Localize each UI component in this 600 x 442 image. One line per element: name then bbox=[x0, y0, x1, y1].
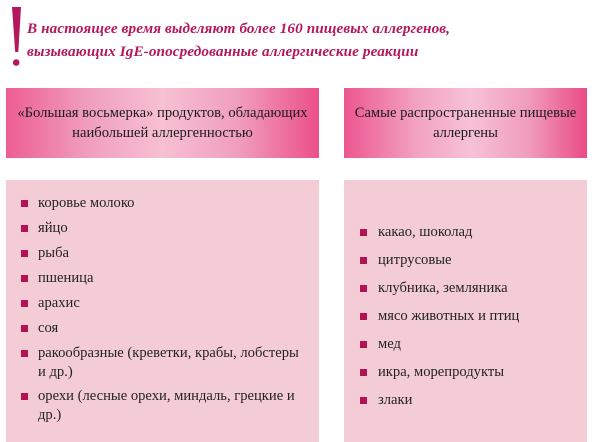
banner-line-1: В настоящее время выделяют более 160 пищ… bbox=[27, 20, 450, 37]
list-item: какао, шоколад bbox=[354, 223, 577, 242]
list-item-label: какао, шоколад bbox=[378, 224, 472, 240]
square-bullet-icon bbox=[360, 229, 367, 236]
list-item: злаки bbox=[354, 391, 577, 410]
banner-line-2: вызывающих IgE-опосредованные аллергичес… bbox=[27, 40, 587, 63]
list-item: яйцо bbox=[16, 219, 309, 238]
square-bullet-icon bbox=[21, 250, 28, 257]
list-item: арахис bbox=[16, 294, 309, 313]
right-column-header-label: Самые распространенные пищевые аллергены bbox=[354, 103, 577, 143]
square-bullet-icon bbox=[21, 225, 28, 232]
list-item-label: арахис bbox=[38, 295, 80, 311]
list-item-label: орехи (лесные орехи, миндаль, грецкие и … bbox=[38, 388, 295, 423]
list-item: орехи (лесные орехи, миндаль, грецкие и … bbox=[16, 387, 309, 425]
list-item-label: соя bbox=[38, 320, 58, 336]
square-bullet-icon bbox=[21, 325, 28, 332]
list-item: клубника, земляника bbox=[354, 279, 577, 298]
list-item-label: рыба bbox=[38, 245, 69, 261]
exclamation-mark-icon bbox=[8, 6, 28, 68]
list-item: рыба bbox=[16, 244, 309, 263]
list-item: икра, морепродукты bbox=[354, 363, 577, 382]
right-column-header: Самые распространенные пищевые аллергены bbox=[344, 88, 587, 158]
square-bullet-icon bbox=[360, 313, 367, 320]
list-item-label: коровье молоко bbox=[38, 195, 134, 211]
square-bullet-icon bbox=[21, 300, 28, 307]
list-item: пшеница bbox=[16, 269, 309, 288]
right-column-panel: какао, шоколад цитрусовые клубника, земл… bbox=[344, 180, 587, 442]
list-item-label: цитрусовые bbox=[378, 252, 452, 268]
square-bullet-icon bbox=[21, 393, 28, 400]
list-item: соя bbox=[16, 319, 309, 338]
list-item-label: яйцо bbox=[38, 220, 68, 236]
square-bullet-icon bbox=[21, 275, 28, 282]
list-item-label: икра, морепродукты bbox=[378, 364, 504, 380]
left-column-header-label: «Большая восьмерка» продуктов, обладающи… bbox=[16, 103, 309, 143]
square-bullet-icon bbox=[360, 397, 367, 404]
list-item-label: клубника, земляника bbox=[378, 280, 508, 296]
square-bullet-icon bbox=[360, 257, 367, 264]
square-bullet-icon bbox=[360, 341, 367, 348]
list-item-label: пшеница bbox=[38, 270, 93, 286]
list-item-label: ракообразные (креветки, крабы, лобстеры … bbox=[38, 345, 299, 380]
left-column-panel: коровье молоко яйцо рыба пшеница арахис … bbox=[6, 180, 319, 442]
list-item: цитрусовые bbox=[354, 251, 577, 270]
square-bullet-icon bbox=[360, 285, 367, 292]
banner-text: В настоящее время выделяют более 160 пищ… bbox=[27, 17, 587, 63]
list-item: ракообразные (креветки, крабы, лобстеры … bbox=[16, 344, 309, 382]
list-item-label: мед bbox=[378, 336, 401, 352]
list-item: коровье молоко bbox=[16, 194, 309, 213]
square-bullet-icon bbox=[21, 350, 28, 357]
left-allergen-list: коровье молоко яйцо рыба пшеница арахис … bbox=[16, 194, 309, 425]
list-item: мясо животных и птиц bbox=[354, 307, 577, 326]
list-item-label: мясо животных и птиц bbox=[378, 308, 519, 324]
square-bullet-icon bbox=[360, 369, 367, 376]
right-allergen-list: какао, шоколад цитрусовые клубника, земл… bbox=[354, 223, 577, 410]
left-column-header: «Большая восьмерка» продуктов, обладающи… bbox=[6, 88, 319, 158]
banner: В настоящее время выделяют более 160 пищ… bbox=[0, 0, 600, 84]
list-item-label: злаки bbox=[378, 392, 412, 408]
square-bullet-icon bbox=[21, 200, 28, 207]
list-item: мед bbox=[354, 335, 577, 354]
